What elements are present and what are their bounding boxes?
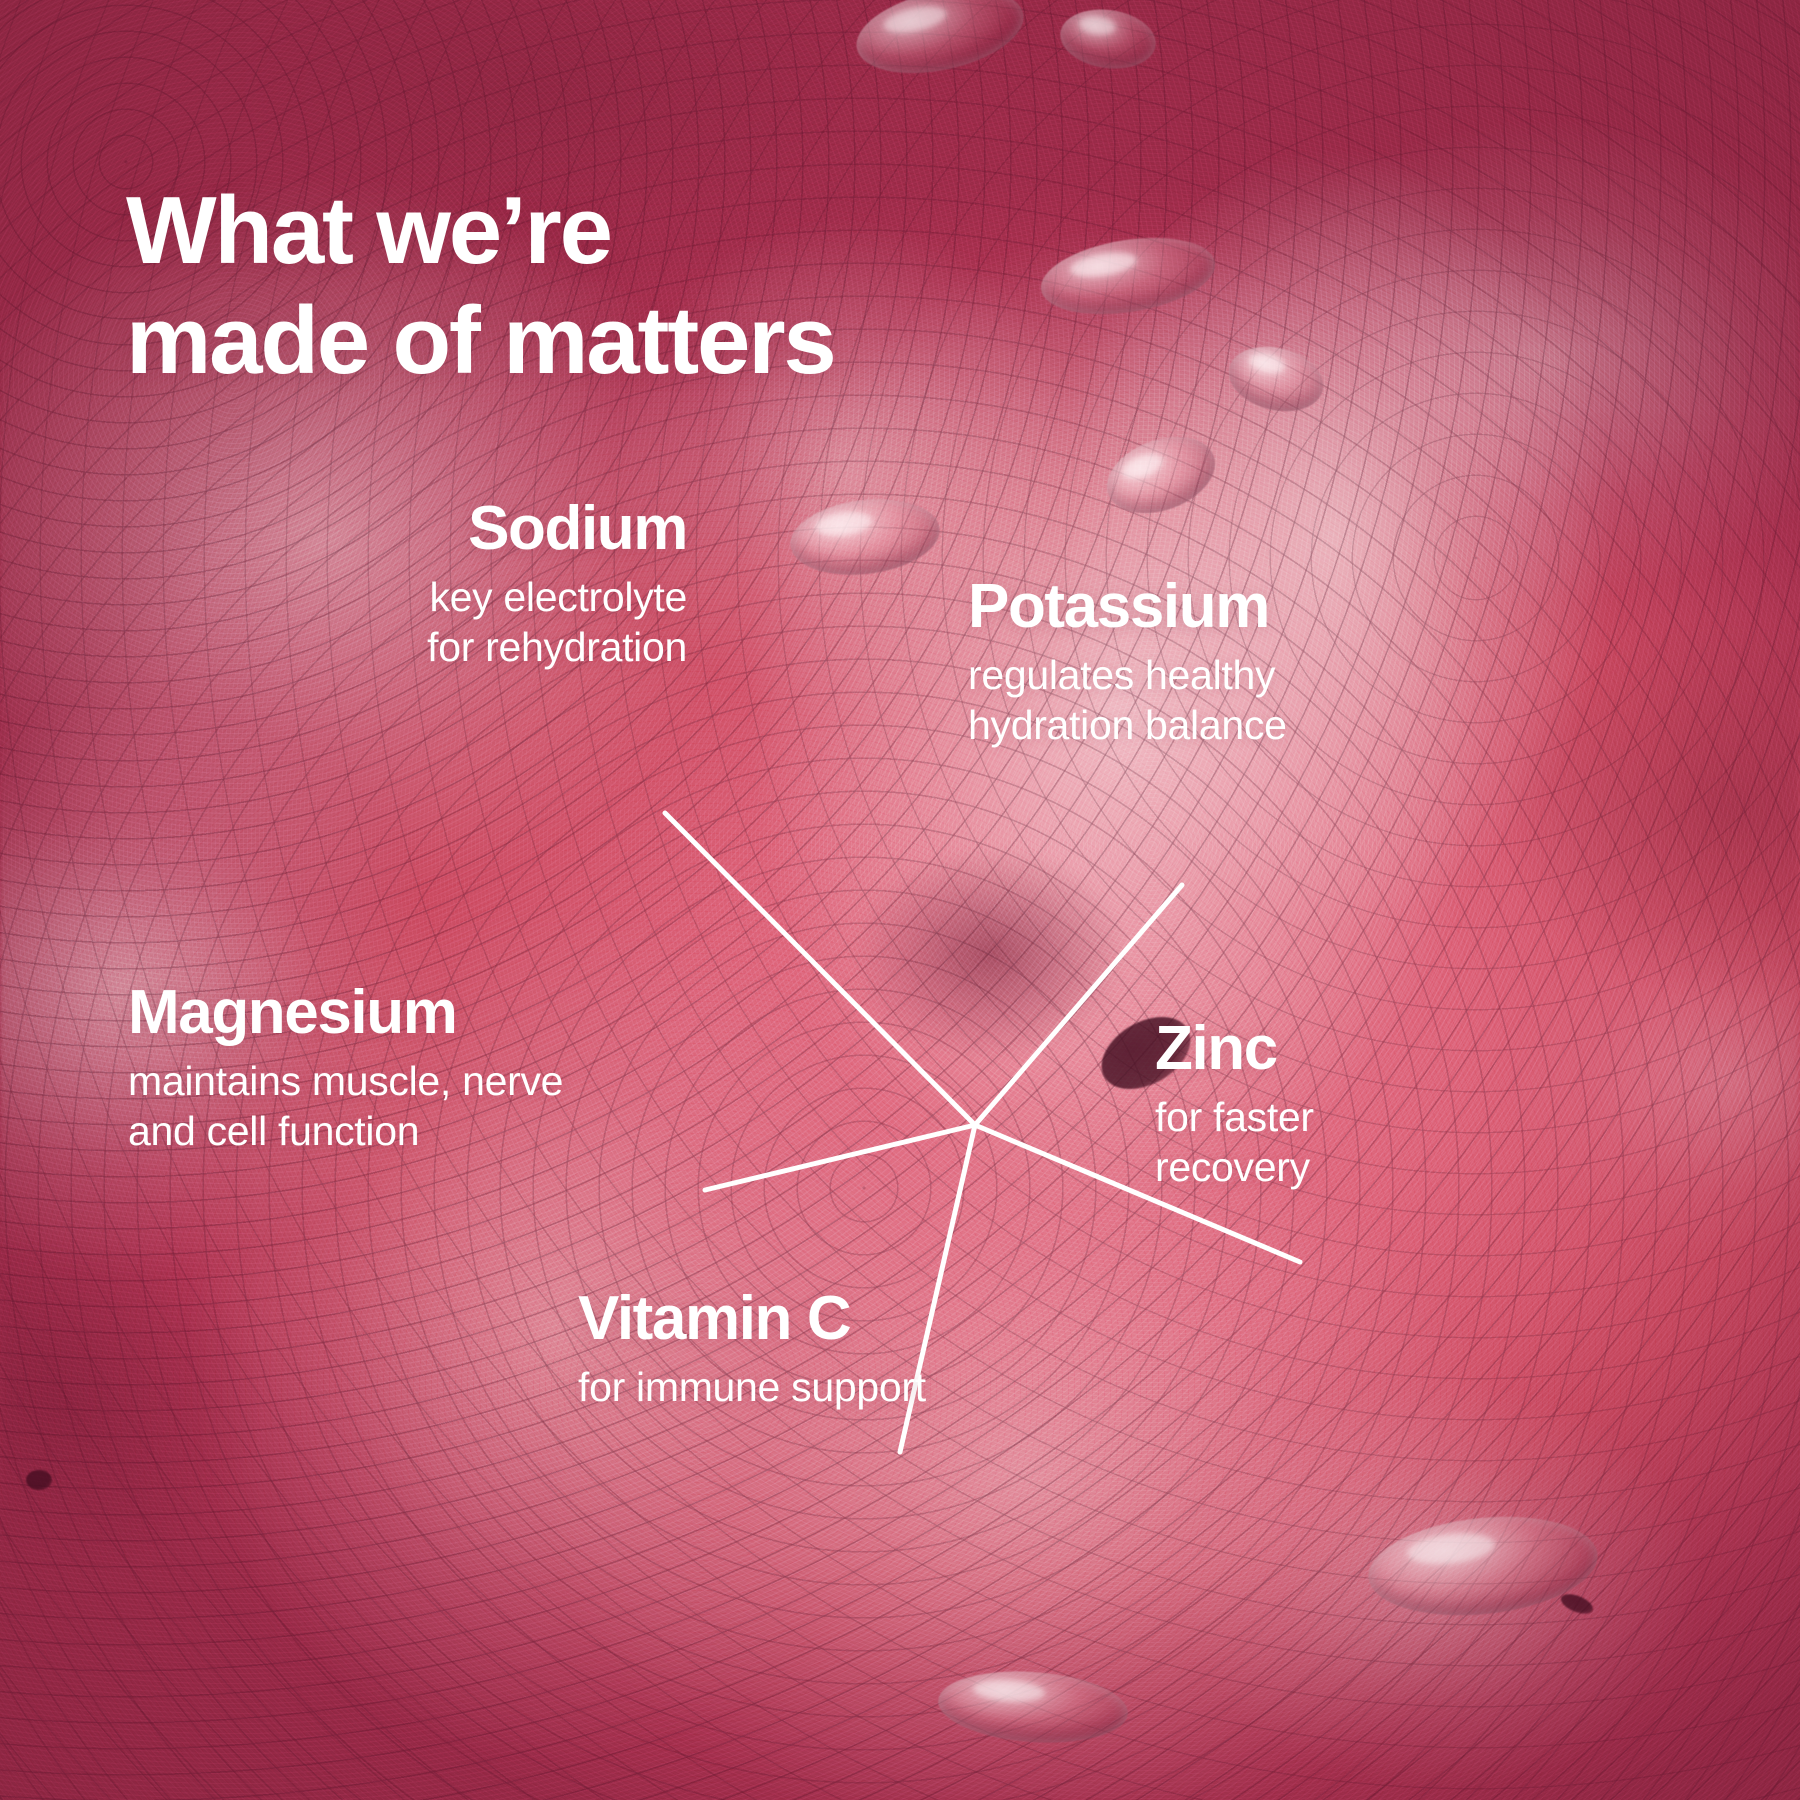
nutrient-label-potassium: Potassium regulates healthy hydration ba… bbox=[968, 576, 1287, 750]
nutrient-description-zinc: for faster recovery bbox=[1155, 1092, 1314, 1192]
nutrient-description-sodium: key electrolyte for rehydration bbox=[427, 572, 687, 672]
nutrient-description-potassium: regulates healthy hydration balance bbox=[968, 650, 1287, 750]
nutrient-title-vitamin-c: Vitamin C bbox=[578, 1288, 926, 1350]
nutrient-description-vitamin-c: for immune support bbox=[578, 1362, 926, 1412]
nutrient-title-sodium: Sodium bbox=[427, 498, 687, 560]
page-title: What we’re made of matters bbox=[126, 176, 835, 395]
nutrient-title-zinc: Zinc bbox=[1155, 1018, 1314, 1080]
nutrient-title-magnesium: Magnesium bbox=[128, 982, 563, 1044]
nutrient-label-zinc: Zinc for faster recovery bbox=[1155, 1018, 1314, 1192]
nutrient-label-vitamin-c: Vitamin C for immune support bbox=[578, 1288, 926, 1412]
nutrient-title-potassium: Potassium bbox=[968, 576, 1287, 638]
nutrient-label-sodium: Sodium key electrolyte for rehydration bbox=[427, 498, 687, 672]
nutrient-label-magnesium: Magnesium maintains muscle, nerve and ce… bbox=[128, 982, 563, 1156]
nutrient-description-magnesium: maintains muscle, nerve and cell functio… bbox=[128, 1056, 563, 1156]
infographic-canvas: What we’re made of matters Sodium key el… bbox=[0, 0, 1800, 1800]
